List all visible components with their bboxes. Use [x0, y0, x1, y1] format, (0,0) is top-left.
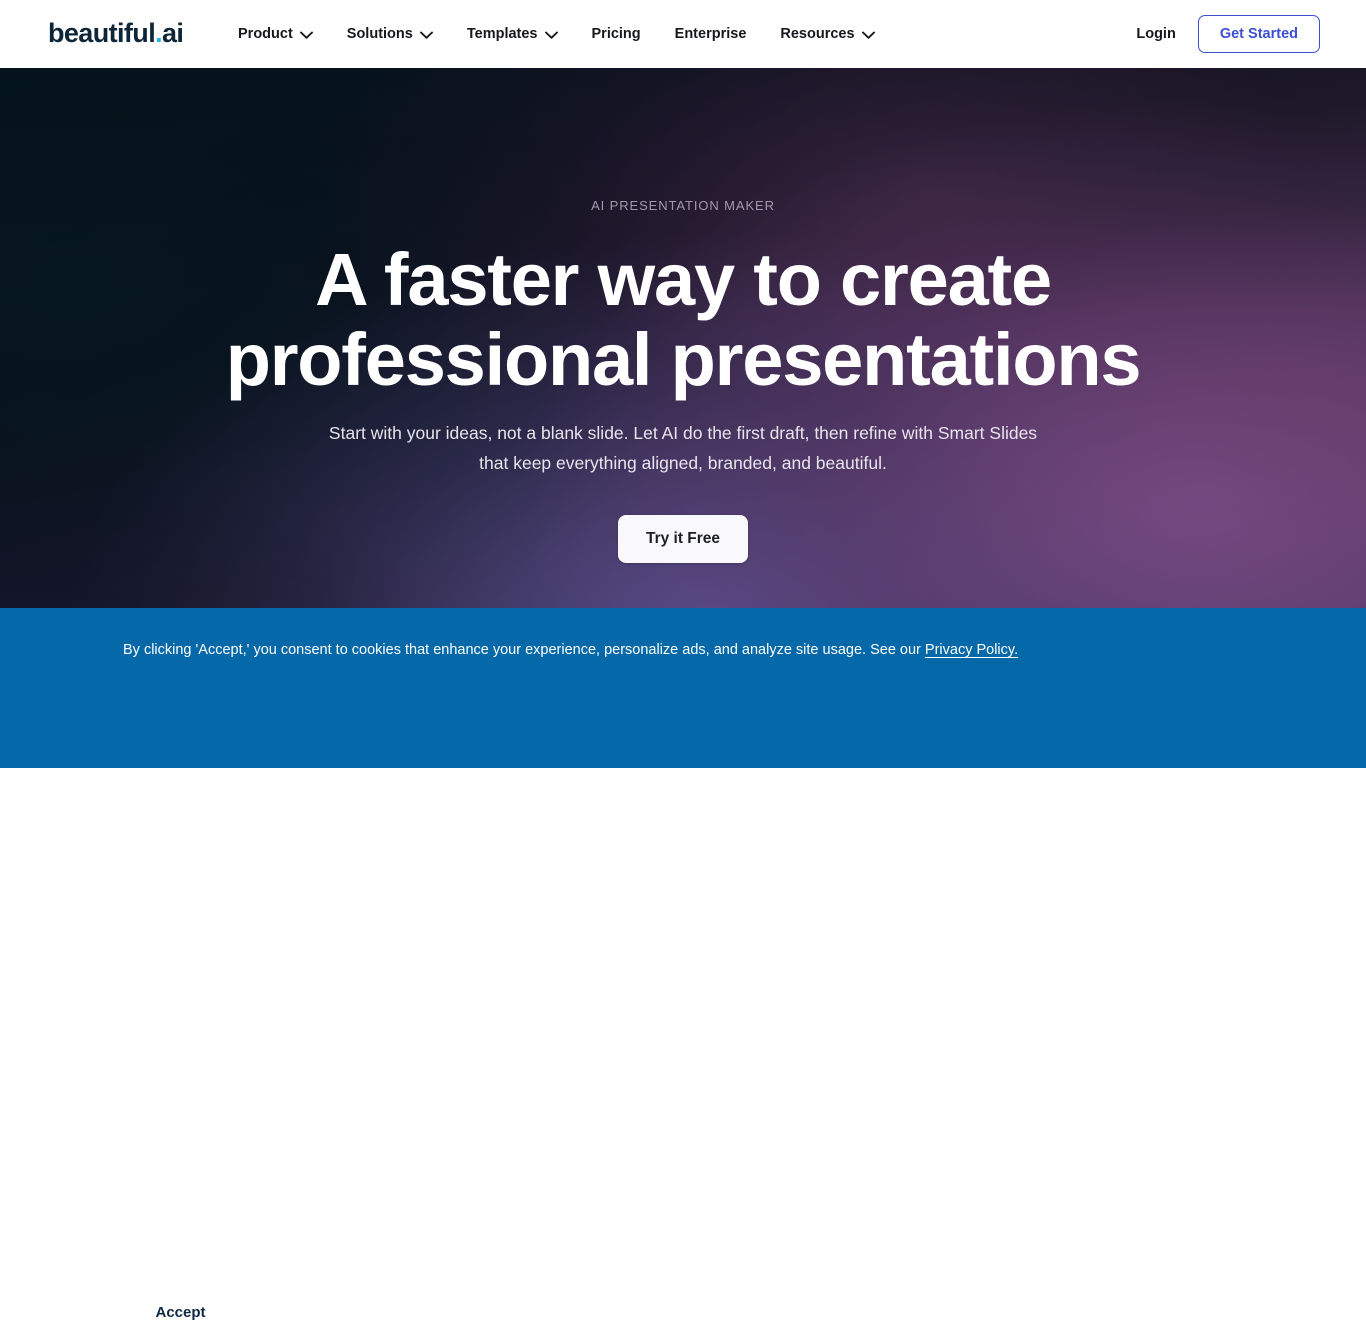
chevron-down-icon — [420, 31, 433, 39]
try-it-free-button[interactable]: Try it Free — [618, 515, 748, 563]
login-link[interactable]: Login — [1136, 26, 1175, 42]
brand-logo-main: beautiful — [48, 18, 155, 48]
brand-logo-suffix: ai — [162, 18, 183, 48]
chevron-down-icon — [545, 31, 558, 39]
nav-item-templates[interactable]: Templates — [467, 26, 575, 42]
hero-eyebrow: AI PRESENTATION MAKER — [0, 198, 1366, 213]
chevron-down-icon — [300, 31, 313, 39]
get-started-button[interactable]: Get Started — [1198, 15, 1320, 53]
brand-logo-dot: . — [155, 18, 162, 48]
cookie-banner-actions: Accept Preferences — [123, 1290, 372, 1335]
brand-logo[interactable]: beautiful.ai — [48, 18, 183, 48]
privacy-policy-link[interactable]: Privacy Policy. — [925, 642, 1018, 658]
hero-headline: A faster way to create professional pres… — [0, 240, 1366, 400]
accept-cookies-button[interactable]: Accept — [123, 1290, 238, 1335]
nav-item-resources[interactable]: Resources — [780, 26, 891, 42]
cookie-message-text: By clicking 'Accept,' you consent to coo… — [123, 642, 925, 658]
nav-item-solutions[interactable]: Solutions — [347, 26, 450, 42]
top-navigation-bar: beautiful.ai Product Solutions Templates… — [0, 0, 1366, 68]
primary-nav-links: Product Solutions Templates Pricing Ente… — [238, 0, 892, 68]
cookie-preferences-link[interactable]: Preferences — [294, 1305, 372, 1321]
nav-item-label: Solutions — [347, 26, 413, 42]
nav-actions: Login Get Started — [1136, 0, 1320, 68]
hero-cta-wrapper: Try it Free — [0, 515, 1366, 563]
nav-item-pricing[interactable]: Pricing — [592, 26, 658, 42]
nav-item-label: Templates — [467, 26, 538, 42]
cookie-consent-banner: By clicking 'Accept,' you consent to coo… — [0, 608, 1366, 768]
nav-item-product[interactable]: Product — [238, 26, 330, 42]
hero-subheadline: Start with your ideas, not a blank slide… — [0, 418, 1366, 478]
nav-item-label: Product — [238, 26, 293, 42]
chevron-down-icon — [862, 31, 875, 39]
nav-item-label: Resources — [780, 26, 854, 42]
nav-item-enterprise[interactable]: Enterprise — [675, 26, 764, 42]
nav-item-label: Enterprise — [675, 26, 747, 42]
nav-item-label: Pricing — [592, 26, 641, 42]
cookie-consent-message: By clicking 'Accept,' you consent to coo… — [123, 640, 1018, 660]
